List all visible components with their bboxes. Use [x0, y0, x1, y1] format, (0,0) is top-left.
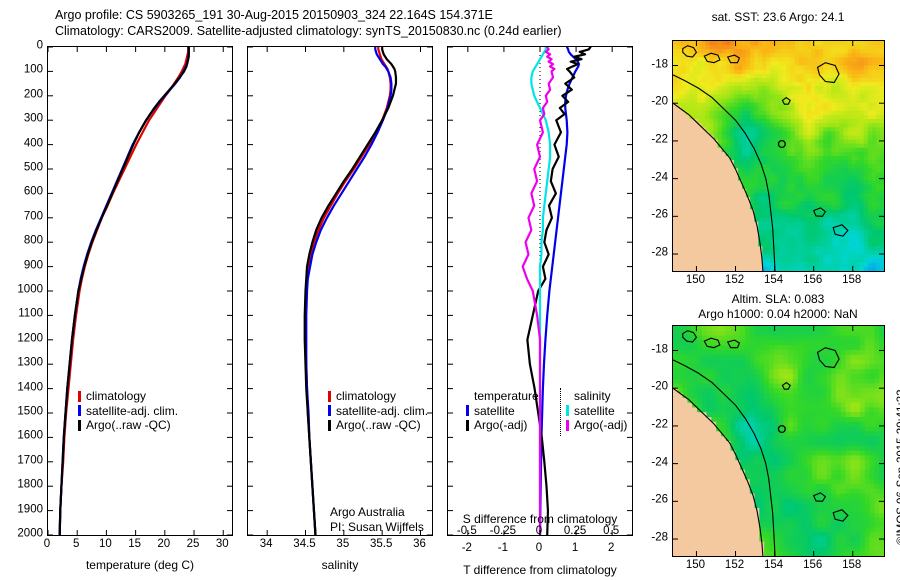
data-cell: [774, 99, 779, 104]
data-cell: [705, 99, 710, 104]
data-cell: [783, 393, 788, 398]
land-cell: [685, 255, 690, 260]
temperature-axis-title: temperature (deg C): [86, 558, 194, 572]
data-cell: [762, 234, 767, 239]
data-cell: [864, 135, 869, 140]
data-cell: [791, 119, 796, 124]
data-cell: [799, 78, 804, 83]
data-cell: [795, 123, 800, 128]
data-cell: [803, 238, 808, 243]
data-cell: [795, 152, 800, 157]
data-cell: [831, 455, 836, 460]
land-cell: [726, 197, 731, 202]
data-cell: [812, 379, 817, 384]
data-cell: [835, 181, 840, 186]
land-cell: [701, 131, 706, 136]
data-cell: [836, 460, 841, 465]
land-cell: [714, 193, 719, 198]
data-cell: [702, 331, 707, 336]
data-cell: [799, 259, 804, 264]
data-cell: [735, 422, 740, 427]
data-cell: [823, 152, 828, 157]
data-cell: [852, 214, 857, 219]
data-cell: [795, 242, 800, 247]
data-cell: [846, 398, 851, 403]
data-cell: [769, 355, 774, 360]
data-cell: [855, 412, 860, 417]
data-cell: [692, 355, 697, 360]
data-cell: [774, 455, 779, 460]
data-cell: [770, 66, 775, 71]
land-cell: [731, 513, 736, 518]
data-cell: [860, 508, 865, 513]
data-cell: [811, 238, 816, 243]
data-cell: [795, 148, 800, 153]
data-cell: [815, 123, 820, 128]
data-cell: [874, 412, 879, 417]
data-cell: [864, 49, 869, 54]
data-cell: [843, 160, 848, 165]
data-cell: [673, 57, 678, 62]
data-cell: [847, 177, 852, 182]
land-cell: [716, 436, 721, 441]
data-cell: [803, 107, 808, 112]
data-cell: [807, 446, 812, 451]
data-cell: [764, 355, 769, 360]
data-cell: [855, 407, 860, 412]
data-cell: [868, 164, 873, 169]
data-cell: [879, 460, 884, 465]
data-cell: [759, 436, 764, 441]
data-cell: [839, 214, 844, 219]
data-cell: [770, 238, 775, 243]
data-cell: [855, 465, 860, 470]
data-cell: [823, 222, 828, 227]
land-cell: [718, 250, 723, 255]
land-cell: [738, 250, 743, 255]
data-cell: [798, 350, 803, 355]
data-cell: [735, 350, 740, 355]
data-cell: [769, 379, 774, 384]
data-cell: [746, 177, 751, 182]
data-cell: [791, 234, 796, 239]
data-cell: [799, 148, 804, 153]
data-cell: [841, 455, 846, 460]
data-cell: [681, 86, 686, 91]
data-cell: [750, 107, 755, 112]
land-cell: [710, 209, 715, 214]
data-cell: [811, 205, 816, 210]
data-cell: [779, 177, 784, 182]
data-cell: [787, 263, 792, 268]
data-cell: [701, 49, 706, 54]
data-cell: [879, 340, 884, 345]
data-cell: [731, 364, 736, 369]
data-cell: [823, 255, 828, 260]
data-cell: [779, 131, 784, 136]
land-cell: [681, 246, 686, 251]
data-cell: [839, 74, 844, 79]
land-cell: [689, 127, 694, 132]
land-cell: [705, 140, 710, 145]
data-cell: [787, 209, 792, 214]
land-cell: [707, 455, 712, 460]
data-cell: [856, 78, 861, 83]
land-cell: [721, 499, 726, 504]
land-cell: [701, 148, 706, 153]
data-cell: [722, 82, 727, 87]
land-cell: [673, 403, 678, 408]
data-cell: [705, 74, 710, 79]
data-cell: [770, 131, 775, 136]
data-cell: [872, 246, 877, 251]
data-cell: [827, 250, 832, 255]
data-cell: [880, 111, 884, 116]
data-cell: [779, 451, 784, 456]
data-cell: [843, 205, 848, 210]
data-cell: [822, 479, 827, 484]
land-cell: [701, 164, 706, 169]
data-cell: [864, 250, 869, 255]
data-cell: [872, 193, 877, 198]
data-cell: [874, 326, 879, 331]
data-cell: [856, 115, 861, 120]
data-cell: [707, 331, 712, 336]
data-cell: [807, 431, 812, 436]
data-cell: [831, 250, 836, 255]
data-cell: [798, 431, 803, 436]
data-cell: [770, 90, 775, 95]
data-cell: [742, 45, 747, 50]
data-cell: [843, 209, 848, 214]
land-cell: [677, 140, 682, 145]
data-cell: [673, 94, 678, 99]
data-cell: [707, 412, 712, 417]
data-cell: [750, 436, 755, 441]
data-cell: [850, 494, 855, 499]
data-cell: [835, 82, 840, 87]
argo-attribution: Argo Australia PI: Susan Wijffels: [330, 505, 424, 534]
data-cell: [876, 197, 881, 202]
data-cell: [864, 218, 869, 223]
data-cell: [799, 218, 804, 223]
data-cell: [711, 369, 716, 374]
data-cell: [774, 412, 779, 417]
land-cell: [689, 205, 694, 210]
land-cell: [707, 513, 712, 518]
data-cell: [868, 45, 873, 50]
data-cell: [681, 103, 686, 108]
land-cell: [716, 499, 721, 504]
data-cell: [750, 127, 755, 132]
data-cell: [815, 53, 820, 58]
data-cell: [811, 152, 816, 157]
data-cell: [831, 181, 836, 186]
data-cell: [803, 94, 808, 99]
data-cell: [685, 66, 690, 71]
data-cell: [841, 340, 846, 345]
data-cell: [779, 379, 784, 384]
data-cell: [841, 336, 846, 341]
data-cell: [815, 218, 820, 223]
data-cell: [879, 407, 884, 412]
data-cell: [718, 127, 723, 132]
data-cell: [846, 479, 851, 484]
data-cell: [876, 230, 881, 235]
data-cell: [872, 82, 877, 87]
data-cell: [839, 127, 844, 132]
data-cell: [673, 340, 678, 345]
data-cell: [750, 393, 755, 398]
data-cell: [823, 86, 828, 91]
data-cell: [738, 66, 743, 71]
data-cell: [835, 172, 840, 177]
legend-column-header: temperature: [474, 389, 566, 404]
data-cell: [754, 86, 759, 91]
data-cell: [879, 436, 884, 441]
data-cell: [856, 45, 861, 50]
data-cell: [850, 427, 855, 432]
data-cell: [822, 441, 827, 446]
data-cell: [823, 156, 828, 161]
data-cell: [819, 238, 824, 243]
land-cell: [721, 503, 726, 508]
data-cell: [865, 427, 870, 432]
land-cell: [730, 218, 735, 223]
data-cell: [758, 222, 763, 227]
data-cell: [855, 489, 860, 494]
data-cell: [839, 82, 844, 87]
data-cell: [769, 460, 774, 465]
data-cell: [750, 99, 755, 104]
land-cell: [707, 431, 712, 436]
land-cell: [714, 263, 719, 268]
data-cell: [807, 513, 812, 518]
data-cell: [807, 226, 812, 231]
land-cell: [746, 230, 751, 235]
land-cell: [693, 148, 698, 153]
data-cell: [766, 263, 771, 268]
data-cell: [754, 185, 759, 190]
land-cell: [705, 201, 710, 206]
data-cell: [730, 99, 735, 104]
data-cell: [860, 205, 865, 210]
data-cell: [730, 66, 735, 71]
data-cell: [687, 345, 692, 350]
data-cell: [855, 403, 860, 408]
data-cell: [793, 503, 798, 508]
data-cell: [722, 94, 727, 99]
data-cell: [799, 57, 804, 62]
data-cell: [835, 197, 840, 202]
data-cell: [811, 127, 816, 132]
data-cell: [788, 369, 793, 374]
land-cell: [714, 189, 719, 194]
data-cell: [817, 422, 822, 427]
data-cell: [779, 345, 784, 350]
data-cell: [835, 160, 840, 165]
data-cell: [685, 74, 690, 79]
data-cell: [726, 379, 731, 384]
data-cell: [839, 168, 844, 173]
data-cell: [812, 513, 817, 518]
data-cell: [783, 197, 788, 202]
data-cell: [799, 160, 804, 165]
data-cell: [864, 41, 869, 46]
data-cell: [755, 393, 760, 398]
data-cell: [872, 164, 877, 169]
data-cell: [826, 393, 831, 398]
data-cell: [872, 115, 877, 120]
data-cell: [856, 111, 861, 116]
data-cell: [798, 513, 803, 518]
data-cell: [864, 86, 869, 91]
land-cell: [673, 230, 678, 235]
data-cell: [764, 360, 769, 365]
data-cell: [783, 156, 788, 161]
land-cell: [692, 475, 697, 480]
data-cell: [783, 242, 788, 247]
data-cell: [831, 499, 836, 504]
land-cell: [673, 446, 678, 451]
data-cell: [791, 45, 796, 50]
data-cell: [860, 148, 865, 153]
data-cell: [843, 193, 848, 198]
land-cell: [716, 465, 721, 470]
legend-divider: [560, 388, 561, 436]
data-cell: [847, 57, 852, 62]
land-cell: [710, 152, 715, 157]
land-cell: [735, 513, 740, 518]
data-cell: [856, 74, 861, 79]
data-cell: [714, 66, 719, 71]
data-cell: [759, 431, 764, 436]
t-difference-axis-title: T difference from climatology: [463, 563, 617, 577]
data-cell: [685, 57, 690, 62]
data-cell: [823, 135, 828, 140]
data-cell: [758, 82, 763, 87]
data-cell: [783, 115, 788, 120]
data-cell: [880, 131, 884, 136]
data-cell: [673, 70, 678, 75]
data-cell: [811, 193, 816, 198]
data-cell: [774, 181, 779, 186]
data-cell: [791, 238, 796, 243]
data-cell: [726, 403, 731, 408]
land-cell: [705, 214, 710, 219]
data-cell: [822, 379, 827, 384]
data-cell: [872, 255, 877, 260]
data-cell: [746, 185, 751, 190]
land-cell: [673, 205, 678, 210]
data-cell: [847, 66, 852, 71]
data-cell: [856, 177, 861, 182]
land-cell: [742, 209, 747, 214]
land-cell: [722, 263, 727, 268]
data-cell: [879, 336, 884, 341]
land-cell: [701, 222, 706, 227]
data-cell: [791, 185, 796, 190]
data-cell: [807, 427, 812, 432]
data-cell: [807, 364, 812, 369]
data-cell: [681, 62, 686, 67]
land-cell: [705, 152, 710, 157]
data-cell: [783, 417, 788, 422]
data-cell: [697, 90, 702, 95]
land-cell: [681, 234, 686, 239]
data-cell: [745, 436, 750, 441]
data-cell: [718, 70, 723, 75]
data-cell: [839, 66, 844, 71]
axis-tick-label: 400: [24, 138, 43, 150]
data-cell: [819, 148, 824, 153]
data-cell: [769, 508, 774, 513]
land-cell: [697, 455, 702, 460]
data-cell: [758, 70, 763, 75]
data-cell: [714, 45, 719, 50]
data-cell: [721, 398, 726, 403]
data-cell: [795, 189, 800, 194]
land-cell: [685, 164, 690, 169]
land-cell: [746, 238, 751, 243]
data-cell: [730, 82, 735, 87]
land-cell: [685, 152, 690, 157]
data-cell: [779, 168, 784, 173]
data-cell: [860, 119, 865, 124]
land-cell: [740, 484, 745, 489]
data-cell: [831, 470, 836, 475]
data-cell: [799, 135, 804, 140]
data-cell: [750, 172, 755, 177]
data-cell: [755, 455, 760, 460]
data-cell: [774, 205, 779, 210]
data-cell: [793, 417, 798, 422]
land-cell: [710, 246, 715, 251]
land-cell: [707, 465, 712, 470]
data-cell: [738, 41, 743, 46]
data-cell: [864, 259, 869, 264]
data-cell: [718, 86, 723, 91]
data-cell: [754, 131, 759, 136]
data-cell: [831, 503, 836, 508]
land-cell: [677, 230, 682, 235]
land-cell: [710, 172, 715, 177]
data-cell: [787, 177, 792, 182]
data-cell: [846, 393, 851, 398]
axis-tick-label: 1700: [17, 455, 43, 467]
data-cell: [852, 45, 857, 50]
data-cell: [807, 379, 812, 384]
land-cell: [726, 238, 731, 243]
land-cell: [726, 508, 731, 513]
data-cell: [722, 103, 727, 108]
data-cell: [827, 201, 832, 206]
land-cell: [714, 144, 719, 149]
land-cell: [685, 201, 690, 206]
land-cell: [730, 222, 735, 227]
data-cell: [745, 360, 750, 365]
data-cell: [745, 427, 750, 432]
data-cell: [841, 398, 846, 403]
data-cell: [787, 119, 792, 124]
data-cell: [726, 427, 731, 432]
data-cell: [799, 41, 804, 46]
data-cell: [738, 168, 743, 173]
land-cell: [730, 242, 735, 247]
data-cell: [847, 99, 852, 104]
data-cell: [855, 451, 860, 456]
data-cell: [783, 214, 788, 219]
